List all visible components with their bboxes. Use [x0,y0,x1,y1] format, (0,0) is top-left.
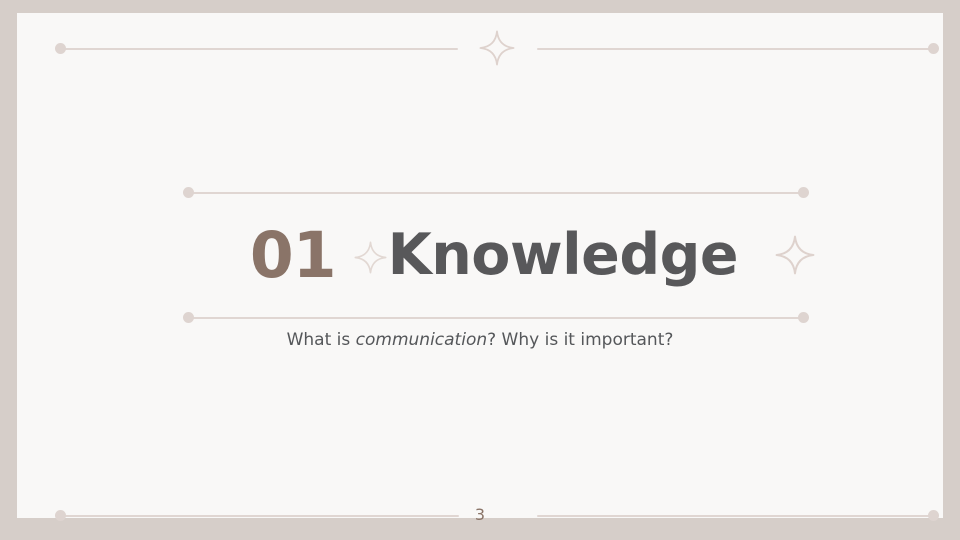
title-divider-top [193,192,803,194]
page-number: 3 [17,505,943,524]
subtitle-text-after: ? Why is it important? [487,330,673,350]
title-divider-bottom [193,317,803,319]
subtitle-text-before: What is [287,330,356,350]
slide-card: 01 Knowledge What is communication? Why … [17,13,943,518]
slide-subtitle: What is communication? Why is it importa… [17,329,943,351]
top-divider-dot-right [928,43,939,54]
headline-row: 01 Knowledge [193,203,803,307]
top-divider-right [537,48,929,50]
subtitle-emphasis: communication [356,330,487,350]
title-divider-dot-bottom-right [798,312,809,323]
title-divider-dot-bottom-left [183,312,194,323]
section-number: 01 [250,224,336,287]
page-title: Knowledge [388,227,739,284]
four-point-star-icon-left [354,241,387,274]
four-point-star-icon-right [775,235,815,275]
four-point-star-icon-top [479,30,515,66]
top-divider-dot-left [55,43,66,54]
top-divider-left [65,48,458,50]
presentation-slide: 01 Knowledge What is communication? Why … [0,0,960,540]
title-divider-dot-top-right [798,187,809,198]
title-divider-dot-top-left [183,187,194,198]
